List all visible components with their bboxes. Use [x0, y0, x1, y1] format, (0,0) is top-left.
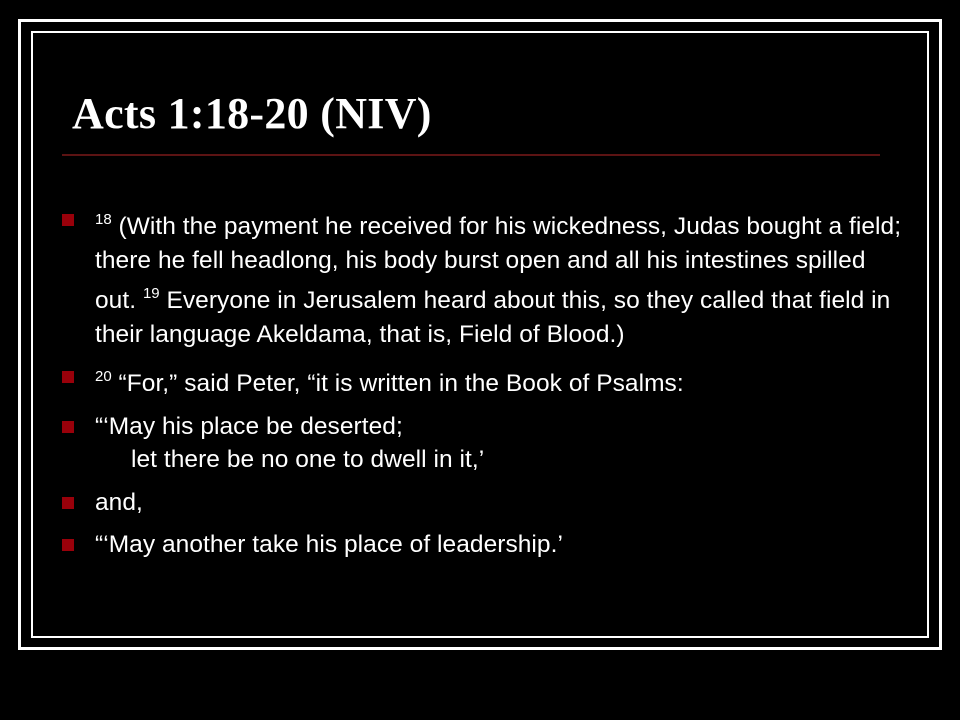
verse-text: “‘May another take his place of leadersh… — [95, 531, 563, 558]
list-item: 20 “For,” said Peter, “it is written in … — [62, 360, 902, 401]
square-bullet-icon — [62, 497, 74, 509]
presentation-slide: Acts 1:18-20 (NIV) 18 (With the payment … — [0, 0, 960, 720]
verse-number: 19 — [143, 285, 160, 302]
square-bullet-icon — [62, 371, 74, 383]
square-bullet-icon — [62, 539, 74, 551]
list-item-text: “‘May his place be deserted;let there be… — [95, 410, 902, 477]
list-item-text: and, — [95, 486, 902, 520]
slide-title-block: Acts 1:18-20 (NIV) — [62, 92, 882, 156]
list-item-text: 18 (With the payment he received for his… — [95, 203, 902, 351]
verse-text: “‘May his place be deserted; — [95, 413, 403, 440]
verse-text: and, — [95, 489, 143, 516]
list-item: and, — [62, 486, 902, 520]
verse-text-continuation: let there be no one to dwell in it,’ — [95, 443, 902, 477]
list-item-text: “‘May another take his place of leadersh… — [95, 528, 902, 562]
list-item: “‘May his place be deserted;let there be… — [62, 410, 902, 477]
verse-text: Everyone in Jerusalem heard about this, … — [95, 287, 890, 348]
square-bullet-icon — [62, 421, 74, 433]
square-bullet-icon — [62, 214, 74, 226]
title-divider — [62, 154, 880, 156]
list-item: “‘May another take his place of leadersh… — [62, 528, 902, 562]
slide-body: 18 (With the payment he received for his… — [62, 203, 902, 562]
verse-number: 20 — [95, 368, 112, 385]
page-title: Acts 1:18-20 (NIV) — [72, 92, 882, 136]
list-item: 18 (With the payment he received for his… — [62, 203, 902, 351]
verse-number: 18 — [95, 211, 112, 228]
list-item-text: 20 “For,” said Peter, “it is written in … — [95, 360, 902, 401]
verse-text: “For,” said Peter, “it is written in the… — [112, 370, 684, 397]
